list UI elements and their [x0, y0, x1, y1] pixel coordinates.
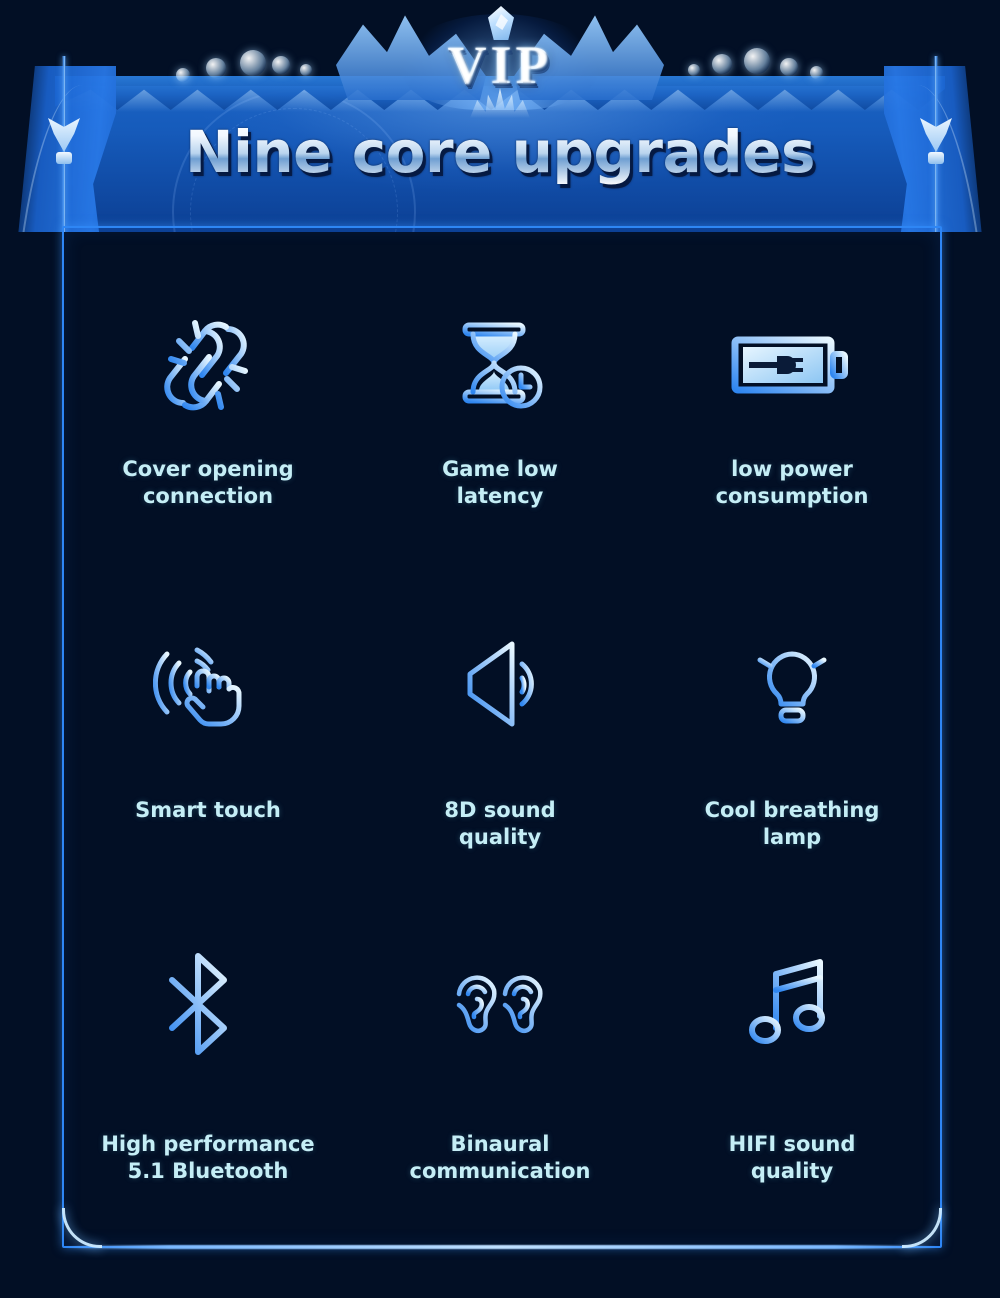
feature-item-8d-sound-quality[interactable]: 8D sound quality — [354, 573, 646, 900]
hourglass-clock-icon — [451, 290, 549, 440]
battery-plug-icon — [727, 290, 857, 440]
feature-item-low-power-consumption[interactable]: low power consumption — [646, 246, 938, 573]
touch-hand-icon — [153, 609, 263, 759]
feature-label: Binaural communication — [410, 1131, 591, 1185]
bubble-decor — [206, 58, 226, 78]
speaker-waves-icon — [444, 609, 556, 759]
feature-item-cover-opening-connection[interactable]: Cover opening connection — [62, 246, 354, 573]
feature-label: Cool breathing lamp — [705, 797, 880, 851]
page-title: Nine core upgrades — [0, 118, 1000, 186]
bubble-decor — [712, 54, 732, 74]
feature-label: 8D sound quality — [444, 797, 555, 851]
product-feature-page: VIP Nine core upgrades — [0, 0, 1000, 1298]
vip-banner-header: VIP Nine core upgrades — [0, 0, 1000, 232]
feature-grid: Cover opening connection — [62, 246, 938, 1226]
feature-item-smart-touch[interactable]: Smart touch — [62, 573, 354, 900]
feature-label: HIFI sound quality — [729, 1131, 856, 1185]
bubble-decor — [744, 48, 770, 74]
vip-label: VIP — [330, 34, 670, 96]
bubble-decor — [780, 58, 798, 76]
feature-item-game-low-latency[interactable]: Game low latency — [354, 246, 646, 573]
frame-bottom-glow — [64, 1245, 940, 1249]
feature-label: low power consumption — [716, 456, 869, 510]
bubble-decor — [300, 64, 312, 76]
bluetooth-icon — [168, 929, 248, 1079]
music-note-icon — [748, 929, 836, 1079]
bubble-decor — [688, 64, 700, 76]
chain-link-sparkle-icon — [153, 290, 263, 440]
feature-label: Smart touch — [135, 797, 281, 824]
feature-item-binaural-communication[interactable]: Binaural communication — [354, 899, 646, 1226]
bubble-decor — [272, 56, 290, 74]
bubble-decor — [176, 68, 190, 82]
vip-crest: VIP — [330, 0, 670, 116]
bubble-decor — [240, 50, 266, 76]
feature-item-high-performance-bluetooth[interactable]: High performance 5.1 Bluetooth — [62, 899, 354, 1226]
feature-item-cool-breathing-lamp[interactable]: Cool breathing lamp — [646, 573, 938, 900]
feature-label: Cover opening connection — [122, 456, 293, 510]
light-bulb-icon — [740, 609, 844, 759]
feature-item-hifi-sound-quality[interactable]: HIFI sound quality — [646, 899, 938, 1226]
feature-label: Game low latency — [442, 456, 558, 510]
feature-label: High performance 5.1 Bluetooth — [101, 1131, 314, 1185]
bubble-decor — [810, 66, 823, 79]
two-ears-icon — [453, 929, 547, 1079]
